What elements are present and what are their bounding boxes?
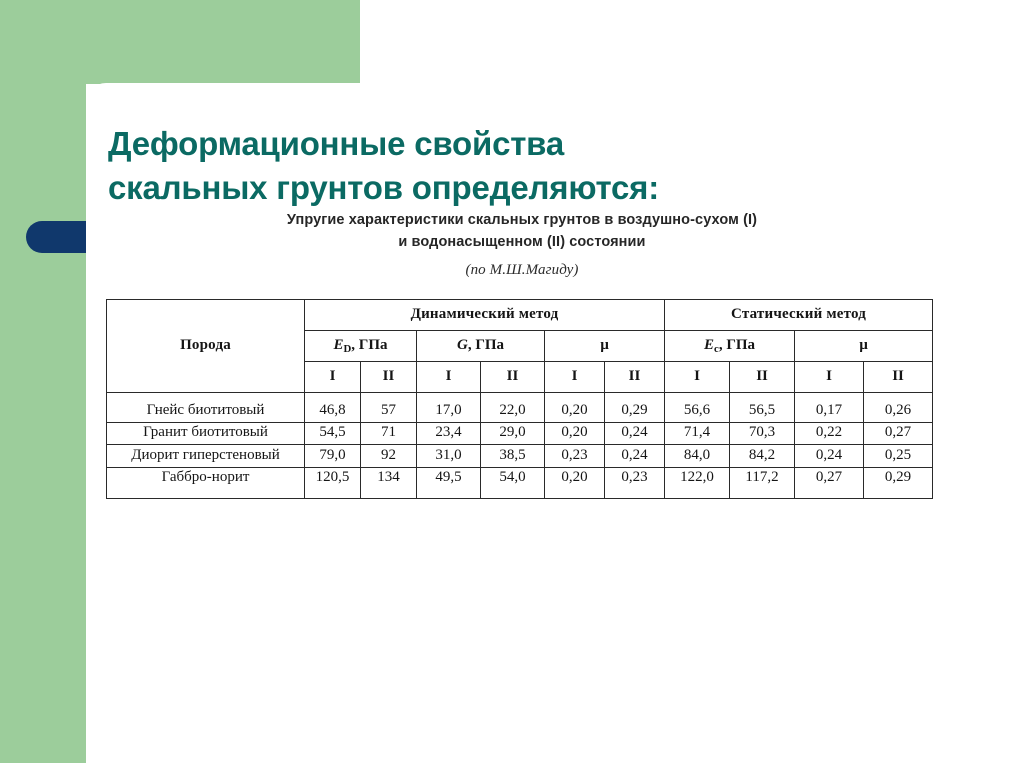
cell: 71,4 xyxy=(665,422,730,445)
sub-header-ed-gpa: ED, ГПа xyxy=(305,331,417,362)
cell: 0,26 xyxy=(864,393,933,423)
cell: 0,23 xyxy=(545,445,605,468)
row-label: Габбро-норит xyxy=(107,467,305,499)
cell: 122,0 xyxy=(665,467,730,499)
state-header-1: I xyxy=(305,362,361,393)
cell: 0,24 xyxy=(605,445,665,468)
cell: 0,23 xyxy=(605,467,665,499)
figure-block: Упругие характеристики скальных грунтов … xyxy=(104,210,940,499)
cell: 23,4 xyxy=(417,422,481,445)
state-header-3: I xyxy=(417,362,481,393)
state-header-6: II xyxy=(605,362,665,393)
table-container: Порода Динамический метод Статический ме… xyxy=(104,299,940,499)
state-header-8: II xyxy=(730,362,795,393)
cell: 29,0 xyxy=(481,422,545,445)
cell: 57 xyxy=(361,393,417,423)
figure-source-attribution: (по М.Ш.Магиду) xyxy=(104,259,940,282)
group-header-static: Статический метод xyxy=(665,300,933,331)
figure-caption: Упругие характеристики скальных грунтов … xyxy=(104,210,940,281)
cell: 31,0 xyxy=(417,445,481,468)
column-header-rock: Порода xyxy=(107,300,305,393)
sub-header-mu-static: µ xyxy=(795,331,933,362)
page-title-line-1: Деформационные свойства xyxy=(108,125,564,162)
cell: 0,27 xyxy=(795,467,864,499)
cell: 22,0 xyxy=(481,393,545,423)
cell: 56,6 xyxy=(665,393,730,423)
cell: 71 xyxy=(361,422,417,445)
group-header-dynamic: Динамический метод xyxy=(305,300,665,331)
cell: 0,22 xyxy=(795,422,864,445)
sub-header-g-gpa: G, ГПа xyxy=(417,331,545,362)
elastic-properties-table: Порода Динамический метод Статический ме… xyxy=(106,299,933,499)
cell: 0,20 xyxy=(545,422,605,445)
cell: 0,29 xyxy=(605,393,665,423)
cell: 92 xyxy=(361,445,417,468)
state-header-4: II xyxy=(481,362,545,393)
unit-ec: , ГПа xyxy=(719,337,755,353)
table-row: Гранит биотитовый 54,5 71 23,4 29,0 0,20… xyxy=(107,422,933,445)
state-header-7: I xyxy=(665,362,730,393)
figure-caption-line-2: и водонасыщенном (II) состоянии xyxy=(104,232,940,254)
table-row: Диорит гиперстеновый 79,0 92 31,0 38,5 0… xyxy=(107,445,933,468)
cell: 84,0 xyxy=(665,445,730,468)
cell: 79,0 xyxy=(305,445,361,468)
state-header-5: I xyxy=(545,362,605,393)
cell: 54,0 xyxy=(481,467,545,499)
cell: 0,24 xyxy=(795,445,864,468)
cell: 46,8 xyxy=(305,393,361,423)
cell: 0,24 xyxy=(605,422,665,445)
cell: 0,20 xyxy=(545,393,605,423)
cell: 17,0 xyxy=(417,393,481,423)
table-header-row-groups: Порода Динамический метод Статический ме… xyxy=(107,300,933,331)
page-title-line-2: скальных грунтов определяются: xyxy=(108,169,659,206)
cell: 49,5 xyxy=(417,467,481,499)
cell: 0,20 xyxy=(545,467,605,499)
table-head: Порода Динамический метод Статический ме… xyxy=(107,300,933,393)
green-left-rail xyxy=(0,0,86,763)
figure-caption-line-1: Упругие характеристики скальных грунтов … xyxy=(104,210,940,232)
table-row: Гнейс биотитовый 46,8 57 17,0 22,0 0,20 … xyxy=(107,393,933,423)
page-title: Деформационные свойства скальных грунтов… xyxy=(108,122,948,210)
table-body: Гнейс биотитовый 46,8 57 17,0 22,0 0,20 … xyxy=(107,393,933,499)
symbol-ed-subscript: D xyxy=(343,343,351,355)
unit-ed: , ГПа xyxy=(351,337,387,353)
symbol-g: G xyxy=(457,337,468,353)
cell: 0,25 xyxy=(864,445,933,468)
cell: 84,2 xyxy=(730,445,795,468)
cell: 0,29 xyxy=(864,467,933,499)
state-header-10: II xyxy=(864,362,933,393)
row-label: Гранит биотитовый xyxy=(107,422,305,445)
cell: 38,5 xyxy=(481,445,545,468)
unit-g: , ГПа xyxy=(468,337,504,353)
table-row: Габбро-норит 120,5 134 49,5 54,0 0,20 0,… xyxy=(107,467,933,499)
cell: 120,5 xyxy=(305,467,361,499)
state-header-9: I xyxy=(795,362,864,393)
slide-canvas: Деформационные свойства скальных грунтов… xyxy=(0,0,1024,767)
row-label: Диорит гиперстеновый xyxy=(107,445,305,468)
sub-header-ec-gpa: Ec, ГПа xyxy=(665,331,795,362)
cell: 134 xyxy=(361,467,417,499)
state-header-2: II xyxy=(361,362,417,393)
cell: 0,27 xyxy=(864,422,933,445)
row-label: Гнейс биотитовый xyxy=(107,393,305,423)
symbol-ec: E xyxy=(704,337,714,353)
cell: 117,2 xyxy=(730,467,795,499)
symbol-ec-subscript: c xyxy=(714,343,719,355)
cell: 56,5 xyxy=(730,393,795,423)
sub-header-mu-dynamic: µ xyxy=(545,331,665,362)
cell: 54,5 xyxy=(305,422,361,445)
cell: 0,17 xyxy=(795,393,864,423)
symbol-ed: E xyxy=(333,337,343,353)
cell: 70,3 xyxy=(730,422,795,445)
